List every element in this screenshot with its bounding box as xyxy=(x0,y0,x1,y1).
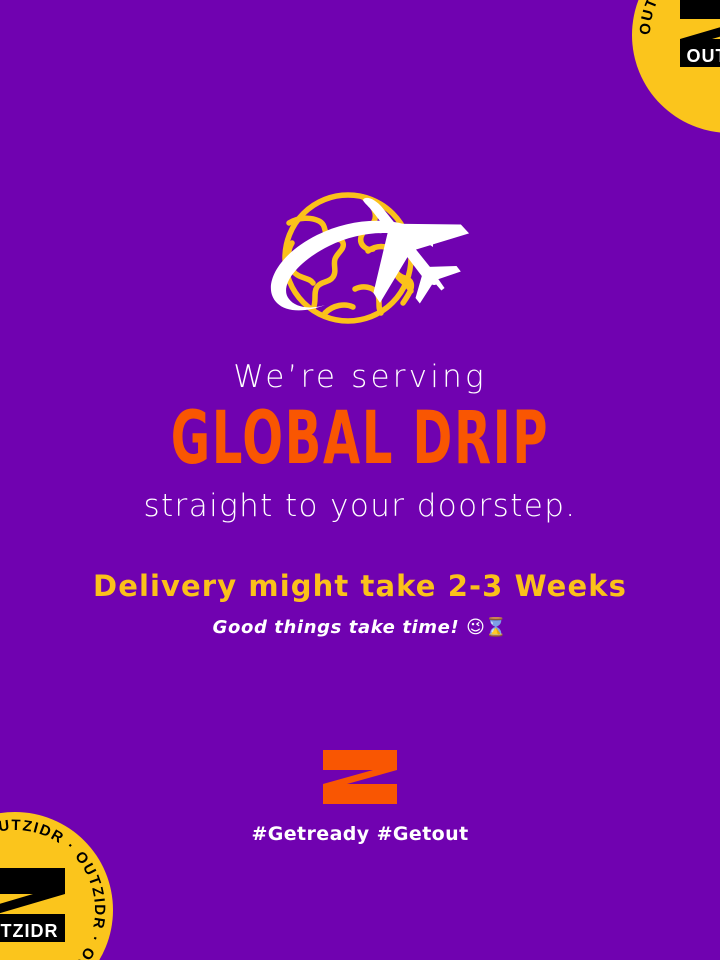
poster-canvas: We’re serving GLOBAL DRIP straight to yo… xyxy=(0,0,720,960)
brand-badge-top-right: OUTZIDR · OUTZIDR · OUTZIDR · OUTZIDR · … xyxy=(632,0,720,133)
headline-copy-block: We’re serving GLOBAL DRIP straight to yo… xyxy=(0,362,720,637)
badge-core-top-right: OUTZIDR xyxy=(668,0,720,97)
reassurance-line: Good things take time! 😉⌛ xyxy=(0,619,720,637)
delivery-estimate-text: Delivery might take 2-3 Weeks xyxy=(0,572,720,601)
brand-badge-bottom-left: OUTZIDR · OUTZIDR · OUTZIDR · OUTZIDR · … xyxy=(0,812,113,960)
reassurance-text: Good things take time! xyxy=(213,617,460,638)
badge-core-bottom-left: OUTZIDR xyxy=(0,848,77,960)
tagline-doorstep: straight to your doorstep. xyxy=(0,491,720,522)
wink-hourglass-emoji: 😉⌛ xyxy=(466,617,507,638)
badge-core-label: OUTZIDR xyxy=(0,921,59,941)
globe-airplane-emblem xyxy=(237,181,483,337)
badge-core-label: OUTZIDR xyxy=(687,46,720,66)
page-title: GLOBAL DRIP xyxy=(50,401,669,474)
tagline-serving: We’re serving xyxy=(0,362,720,393)
globe-airplane-icon xyxy=(237,181,483,337)
z-monogram-icon xyxy=(321,748,399,806)
